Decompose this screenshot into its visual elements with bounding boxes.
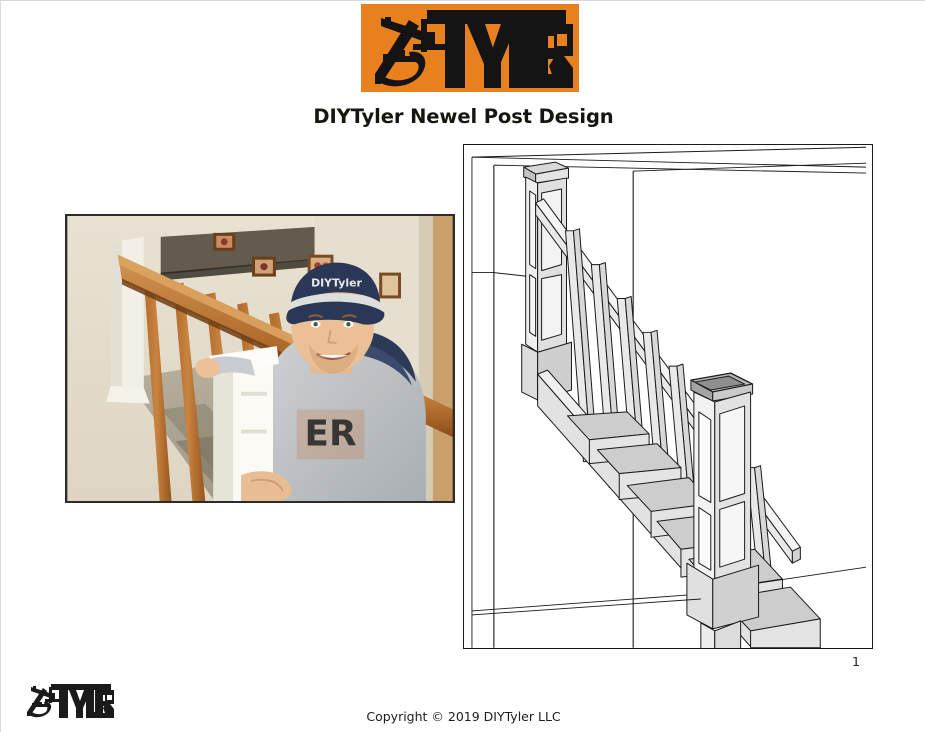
document-page: DIYTyler Newel Post Design (0, 0, 925, 732)
diytyler-logo (361, 4, 579, 92)
drawing-artwork (464, 145, 872, 648)
copyright-notice: Copyright © 2019 DIYTyler LLC (1, 709, 925, 724)
photo-artwork: ER DIYTyler (66, 215, 454, 502)
staircase-railing-photo: ER DIYTyler (65, 214, 455, 503)
diytyler-logo-artwork (361, 4, 579, 92)
page-title: DIYTyler Newel Post Design (1, 105, 925, 128)
svg-text:ER: ER (305, 413, 357, 454)
newel-post-3d-model (463, 144, 873, 649)
svg-text:DIYTyler: DIYTyler (311, 277, 362, 290)
page-number: 1 (841, 654, 871, 669)
